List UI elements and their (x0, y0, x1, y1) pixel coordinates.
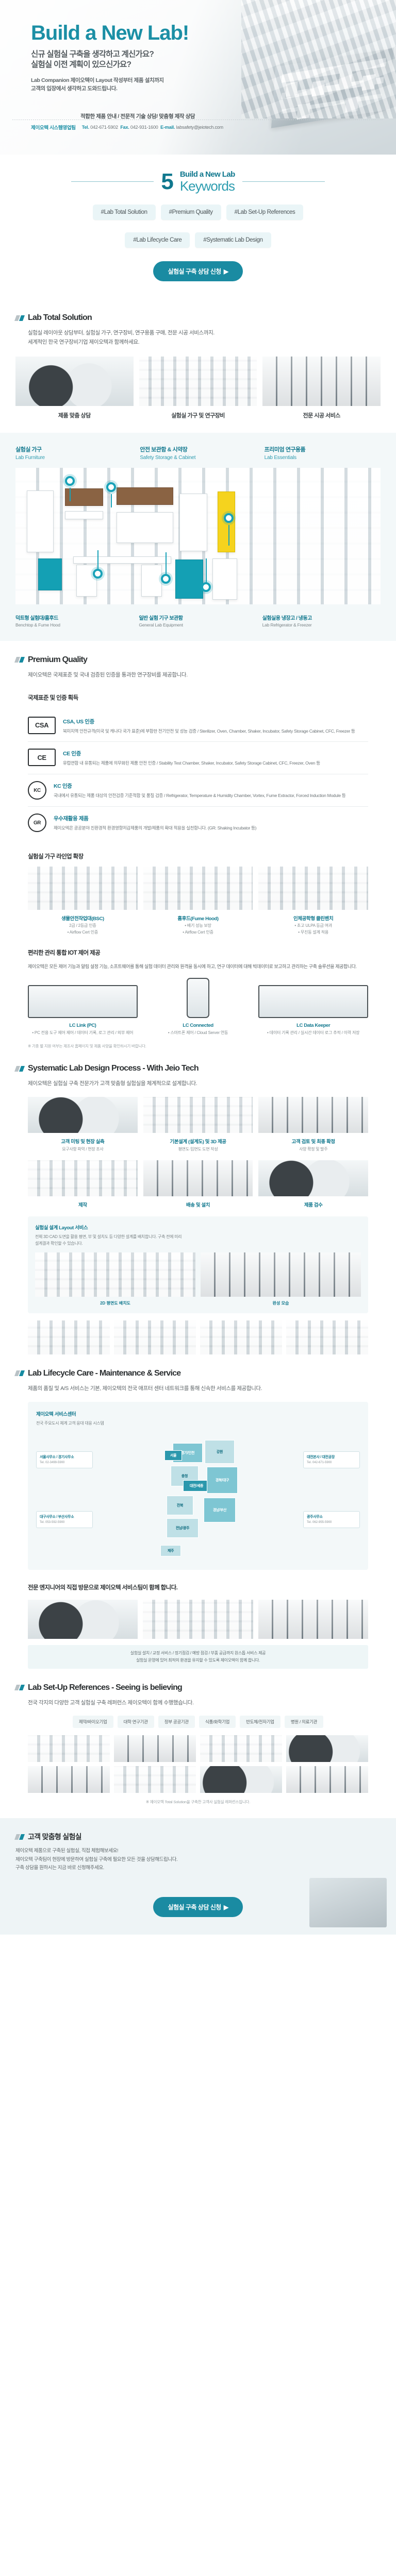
device-desc: • 스마트폰 제어 / Cloud Server 연동 (143, 1030, 253, 1036)
hero-banner: Build a New Lab! 신규 실험실 구축을 생각하고 계신가요? 실… (0, 0, 396, 155)
diagram-label: 덕트형 실험대/흄후드 Benchtop & Fume Hood (15, 614, 134, 628)
cert-description: 제이오텍은 공공분야 친환경적 환경영향저감제품의 개발/제품의 확대 적용을 … (54, 825, 368, 832)
process-step-row-2: 제작 배송 및 설치 제품 검수 (12, 1152, 384, 1208)
product-feature-1: 2급 / 2등급 인증 (28, 923, 138, 928)
device-row: LC Link (PC) • PC 전용 도구 제어 제어 / 데이터 기록, … (12, 971, 384, 1036)
cert-name: CE 인증 (63, 751, 81, 757)
diagram-label-kr: 일반 실험 기구 보관함 (139, 614, 257, 621)
photo-calibration (258, 1600, 368, 1639)
process-step: 고객 미팅 및 현장 실측 요구사항 파악 / 현장 조사 (28, 1097, 138, 1152)
layout-image-row (35, 1252, 361, 1297)
service-note: 실험실 설치 / 교정 서비스 / 정기점검 / 예방 점검 / 부품 공급까지… (28, 1645, 368, 1668)
layout-service-title: 실험실 설계 Layout 서비스 (35, 1224, 361, 1231)
arrow-right-icon: ▶ (224, 268, 228, 275)
reference-tag[interactable]: 반도체/전자기업 (240, 1716, 280, 1728)
diagram-hotspot-pin[interactable] (65, 476, 75, 486)
lab-category-row: 실험실 가구 Lab Furniture 안전 보관함 & 시약장 Safety… (15, 445, 381, 461)
office-name: 대구사무소 / 부산사무소 (40, 1514, 89, 1519)
certification-row: KC KC 인증 국내에서 유통되는 제품 대상의 안전검증 기준적합 및 품질… (28, 774, 368, 807)
footer-lead-line3: 구축 상담을 원하시는 지금 바로 신청해주세요. (15, 1864, 381, 1872)
photo-caption: 전문 시공 서비스 (262, 411, 381, 419)
diagram-unit-cabinet (27, 490, 54, 552)
diagram-hotspot-pin[interactable] (106, 482, 116, 492)
keyword-pill[interactable]: #Lab Lifecycle Care (125, 232, 190, 248)
diagram-unit-bench (117, 512, 173, 543)
photo-maintenance (143, 1600, 253, 1639)
keyword-pill[interactable]: #Premium Quality (161, 205, 221, 220)
lab-category-kr: 실험실 가구 (15, 445, 131, 453)
photo-2d-floorplan (35, 1252, 195, 1297)
photo-lab-furniture (139, 357, 257, 406)
product-name-kr: 생물안전작업대(BSC) (28, 914, 138, 922)
product-feature-2: • Airflow Cert 인증 (28, 929, 138, 935)
photo-card: 제품 맞춤 상담 (15, 357, 134, 419)
step-desc: 사양 확정 및 발주 (258, 1146, 368, 1152)
reference-tag-row: 제약/바이오기업 대학 연구기관 정부 공공기관 식품/화학기업 반도체/전자기… (12, 1707, 384, 1728)
service-center-map-card: 제이오텍 서비스센터 전국 주요도시 체계 고객 응대 대응 시스템 경기/인천… (28, 1402, 368, 1570)
lab-furniture-card: 흄후드(Fume Hood) • 배기 성능 보장 • Airflow Cert… (143, 867, 253, 935)
lab-category-en: Lab Furniture (15, 455, 131, 461)
reference-photo (28, 1735, 110, 1762)
layout-caption: 완성 모습 (201, 1300, 361, 1306)
diagram-label-en: Lab Refrigerator & Freezer (262, 622, 381, 628)
lab-total-lead-line1: 실험실 레이아웃 상담부터, 실험실 가구, 연구장비, 연구용품 구매, 전문… (28, 329, 384, 338)
section-heading-process: Systematic Lab Design Process - With Jei… (12, 1049, 384, 1073)
tablet-icon (258, 985, 368, 1018)
cert-description: 유럽연합 내 유통되는 제품에 의무화된 제품 안전 인증 / Stabilit… (63, 760, 368, 767)
diagram-label: 실험실용 냉장고 / 냉동고 Lab Refrigerator & Freeze… (262, 614, 381, 628)
section-heading-text: Systematic Lab Design Process - With Jei… (28, 1064, 199, 1073)
certification-list: CSA CSA, US 인증 북미지역 안전규격(미국 및 캐나다 국가 표준)… (12, 702, 384, 839)
contact-tel-value: 042-671-5902 (90, 125, 118, 130)
office-phone: Tel. 053-592-5900 (40, 1520, 89, 1525)
premium-quality-section: Premium Quality 제이오텍은 국제표준 및 국내 검증된 인증을 … (0, 641, 396, 1049)
section-marker-icon (15, 1370, 24, 1376)
diagram-unit-overhead-wood (117, 487, 173, 505)
lab-lifecycle-care-section: Lab Lifecycle Care - Maintenance & Servi… (0, 1354, 396, 1669)
contact-headline: 적합한 제품 안내 / 전문적 기술 상담/ 맞춤형 제작 상담 (80, 112, 396, 120)
monitor-icon (28, 985, 138, 1018)
diagram-unit-benchtop (73, 556, 171, 564)
photo-clean-bench (258, 867, 368, 910)
page-title: Build a New Lab! (31, 23, 396, 43)
diagram-unit-overhead-wood (65, 488, 103, 506)
contact-details: Tel. 042-671-5902 Fax. 042-931-1600 E-ma… (82, 125, 223, 130)
lab-category-en: Lab Essentials (265, 455, 381, 461)
section-marker-icon (15, 1834, 24, 1840)
photo-step-meeting (28, 1097, 138, 1133)
layout-caption-row: 2D 평면도 배치도 완성 모습 (35, 1300, 361, 1306)
cert-name: CSA, US 인증 (63, 719, 94, 725)
hero-subtitle-line2: 실험실 이전 계획이 있으신가요? (31, 60, 396, 70)
lab-furniture-heading: 실험실 가구 라인업 확장 (12, 839, 384, 860)
office-phone: Tel. 062-955-5900 (307, 1520, 356, 1525)
photo-caption: 제품 맞춤 상담 (15, 411, 134, 419)
office-card: 대구사무소 / 부산사무소 Tel. 053-592-5900 (36, 1511, 93, 1528)
photo-step-manufacture (28, 1160, 138, 1196)
section-heading-text: Lab Set-Up References - Seeing is believ… (28, 1683, 182, 1692)
keywords-rule-left (71, 181, 154, 182)
diagram-unit-drawer (141, 565, 162, 597)
photo-consultation (15, 357, 134, 406)
diagram-label-en: General Lab Equipment (139, 622, 257, 628)
photo-completed-lab (201, 1252, 361, 1297)
diagram-label-kr: 실험실용 냉장고 / 냉동고 (262, 614, 381, 621)
product-name-kr: 인체공학형 클린벤치 (258, 914, 368, 922)
cad-thumbnail-strip (12, 1313, 384, 1354)
section-marker-icon (15, 1685, 24, 1690)
connected-heading: 편리한 관리 통합 IOT 제어 제공 (12, 935, 384, 957)
reference-tag[interactable]: 병원 / 의료기관 (285, 1716, 323, 1728)
device-name: LC Link (PC) (28, 1023, 138, 1028)
section-heading-lab-total-solution: Lab Total Solution (12, 299, 384, 323)
section-heading-references: Lab Set-Up References - Seeing is believ… (12, 1669, 384, 1692)
section-marker-icon (15, 315, 24, 321)
section-heading-lifecycle: Lab Lifecycle Care - Maintenance & Servi… (12, 1354, 384, 1378)
landing-page: Build a New Lab! 신규 실험실 구축을 생각하고 계신가요? 실… (0, 0, 396, 1935)
photo-fume-hood (143, 867, 253, 910)
diagram-unit-chiller (175, 560, 203, 599)
process-lead: 제이오텍은 실험실 구축 전문가가 고객 맞춤형 실험실을 체계적으로 설계합니… (12, 1073, 384, 1089)
reference-tag[interactable]: 대학 연구기관 (118, 1716, 154, 1728)
gr-badge-icon: GR (28, 814, 46, 832)
lab-total-lead-line2: 세계적인 한국 연구장비기업 제이오텍과 함께하세요. (28, 338, 384, 347)
diagram-unit-storage (212, 558, 237, 600)
office-phone: Tel. 042-671-5900 (307, 1461, 356, 1465)
photo-cad-thumb (286, 1320, 368, 1354)
contact-email-value[interactable]: labsafety@jeiotech.com (176, 125, 223, 130)
device-card-mobile: LC Connected • 스마트폰 제어 / Cloud Server 연동 (143, 978, 253, 1036)
product-feature-1: • 초고 ULPA 등급 여과 (258, 923, 368, 928)
product-feature-1: • 배기 성능 보장 (143, 923, 253, 928)
reference-photo (286, 1766, 368, 1793)
lab-diagram-band: 실험실 가구 Lab Furniture 안전 보관함 & 시약장 Safety… (0, 433, 396, 641)
lab-total-photo-row: 제품 맞춤 상담 실험실 가구 및 연구장비 전문 시공 서비스 (12, 347, 384, 419)
diagram-label-en: Benchtop & Fume Hood (15, 622, 134, 628)
smartphone-icon (187, 978, 209, 1018)
keywords-rule-right (242, 181, 325, 182)
photo-biosafety-cabinet (28, 867, 138, 910)
contact-email-label: E-mail. (160, 125, 175, 130)
map-region[interactable]: 전남/광주 (167, 1518, 199, 1538)
photo-installation (262, 357, 381, 406)
device-name: LC Data Keeper (258, 1023, 368, 1028)
diagram-label-kr: 덕트형 실험대/흄후드 (15, 614, 134, 621)
diagram-hotspot-pin[interactable] (201, 582, 211, 592)
premium-lead-line1: 제이오텍은 국제표준 및 국내 검증된 인증을 통과한 연구장비를 제공합니다. (28, 671, 384, 680)
contact-tel-label: Tel. (82, 125, 89, 130)
contact-fax-label: Fax. (120, 125, 129, 130)
lab-interior-diagram (15, 468, 381, 604)
process-step: 배송 및 설치 (143, 1160, 253, 1208)
office-name: 광주사무소 (307, 1514, 356, 1519)
device-card-pc: LC Link (PC) • PC 전용 도구 제어 제어 / 데이터 기록, … (28, 985, 138, 1036)
layout-service-box: 실험실 설계 Layout 서비스 전체 3D CAD 도면을 활용 평면, 부… (28, 1216, 368, 1313)
lab-total-solution-section: Lab Total Solution 실험실 레이아웃 상담부터, 실험실 가구… (0, 299, 396, 419)
lab-design-process-section: Systematic Lab Design Process - With Jei… (0, 1049, 396, 1354)
lab-category: 실험실 가구 Lab Furniture (15, 445, 131, 461)
step-desc: 평면도·입면도 도면 작성 (143, 1146, 253, 1152)
process-step: 제작 (28, 1160, 138, 1208)
keyword-pill-row-2: #Lab Lifecycle Care #Systematic Lab Desi… (51, 231, 345, 248)
section-heading-text: Premium Quality (28, 655, 87, 665)
hero-desc-line1: Lab Companion 제이오텍이 Layout 작성부터 제품 설치까지 (31, 76, 396, 84)
photo-engineer-visit (28, 1600, 138, 1639)
keyword-pill[interactable]: #Systematic Lab Design (195, 232, 271, 248)
footer-cta-label: 실험실 구축 상담 신청 (168, 1904, 221, 1911)
cert-name: 우수재활용 제품 (54, 816, 88, 822)
reference-photo (200, 1735, 282, 1762)
map-region[interactable]: 강원 (205, 1440, 235, 1464)
keywords-section: 5 Build a New Lab Keywords #Lab Total So… (0, 155, 396, 299)
keywords-count: 5 (161, 172, 172, 191)
diagram-hotspot-pin[interactable] (224, 513, 234, 523)
service-note-line2: 실험실 운영에 있어 최적의 환경을 유지할 수 있도록 제이오텍이 함께 합니… (34, 1657, 362, 1664)
step-title: 기본설계 (설계도) 및 3D 제공 (143, 1138, 253, 1145)
lab-category: 프리미엄 연구용품 Lab Essentials (265, 445, 381, 461)
keywords-title-line2: Keywords (180, 178, 235, 194)
keyword-pill[interactable]: #Lab Set-Up References (226, 205, 304, 220)
step-title: 배송 및 설치 (143, 1201, 253, 1208)
lab-category-kr: 프리미엄 연구용품 (265, 445, 381, 453)
certification-row: CE CE 인증 유럽연합 내 유통되는 제품에 의무화된 제품 안전 인증 /… (28, 742, 368, 774)
photo-step-delivery (143, 1160, 253, 1196)
footer-heading-text: 고객 맞춤형 실험실 (28, 1832, 81, 1842)
kc-badge-icon: KC (28, 781, 46, 800)
consultation-request-button[interactable]: 실험실 구축 상담 신청▶ (153, 261, 242, 281)
photo-card: 전문 시공 서비스 (262, 357, 381, 419)
layout-desc-line1: 전체 3D CAD 도면을 활용 평면, 부 및 설치도 등 다양한 설계를 배… (35, 1234, 361, 1241)
cert-description: 북미지역 안전규격(미국 및 캐나다 국가 표준)에 부합한 전기안전 및 성능… (63, 728, 368, 735)
footer-lead-line1: 제이오텍 제품으로 구축된 실험실, 직접 체험해보세요! (15, 1847, 381, 1855)
ce-badge-icon: CE (28, 749, 56, 766)
diagram-hotspot-pin[interactable] (161, 574, 171, 584)
lab-furniture-card: 생물안전작업대(BSC) 2급 / 2등급 인증 • Airflow Cert … (28, 867, 138, 935)
process-step: 기본설계 (설계도) 및 3D 제공 평면도·입면도 도면 작성 (143, 1097, 253, 1152)
map-region[interactable]: 경남/부산 (204, 1498, 236, 1522)
product-name-kr: 흄후드(Fume Hood) (143, 914, 253, 922)
map-region[interactable]: 서울 (164, 1450, 182, 1461)
step-desc: 요구사항 파악 / 현장 조사 (28, 1146, 138, 1152)
reference-tag[interactable]: 제약/바이오기업 (73, 1716, 113, 1728)
contact-block: 적합한 제품 안내 / 전문적 기술 상담/ 맞춤형 제작 상담 제이오텍 시스… (0, 112, 396, 131)
diagram-unit-shelf (65, 511, 103, 519)
photo-card: 실험실 가구 및 연구장비 (139, 357, 257, 419)
contact-team-name: 제이오텍 시스템영업팀 (31, 124, 76, 131)
lab-category-kr: 안전 보관함 & 시약장 (140, 445, 256, 453)
office-card: 광주사무소 Tel. 062-955-5900 (303, 1511, 360, 1528)
contact-fax-value: 042-931-1600 (130, 125, 158, 130)
diagram-unit-drawer (76, 565, 97, 597)
diagram-label-row: 덕트형 실험대/흄후드 Benchtop & Fume Hood 일반 실험 기… (0, 604, 396, 628)
device-desc: • 데이터 기록 관리 / 실시간 데이터 로그 추적 / 이력 저장 (258, 1030, 368, 1036)
photo-step-design (143, 1097, 253, 1133)
service-photo-row (12, 1591, 384, 1639)
office-name: 서울사무소 / 경기사무소 (40, 1454, 89, 1460)
step-title: 고객 검토 및 최종 확정 (258, 1138, 368, 1145)
certification-row: GR 우수재활용 제품 제이오텍은 공공분야 친환경적 환경영향저감제품의 개발… (28, 807, 368, 839)
photo-cad-thumb (114, 1320, 196, 1354)
device-name: LC Connected (143, 1023, 253, 1028)
device-card-datakeeper: LC Data Keeper • 데이터 기록 관리 / 실시간 데이터 로그 … (258, 985, 368, 1036)
keywords-heading: 5 Build a New Lab Keywords (0, 170, 396, 193)
certs-heading: 국제표준 및 인증 획득 (12, 680, 384, 702)
keyword-pill[interactable]: #Lab Total Solution (93, 205, 156, 220)
reference-photo (114, 1735, 196, 1762)
section-marker-icon (15, 657, 24, 663)
office-phone: Tel. 02-3499-5900 (40, 1461, 89, 1465)
reference-photo-grid (12, 1728, 384, 1793)
photo-step-inspection (258, 1160, 368, 1196)
reference-note: ※ 제이오텍 Total Solution을 구축한 고객사 실험실 레퍼런스입… (12, 1793, 384, 1805)
reference-photo (286, 1735, 368, 1762)
section-heading-text: Lab Total Solution (28, 313, 92, 323)
step-title: 제품 검수 (258, 1201, 368, 1208)
lab-furniture-row: 생물안전작업대(BSC) 2급 / 2등급 인증 • Airflow Cert … (12, 860, 384, 935)
footer-consultation-button[interactable]: 실험실 구축 상담 신청▶ (153, 1897, 242, 1917)
process-step-row-1: 고객 미팅 및 현장 실측 요구사항 파악 / 현장 조사 기본설계 (설계도)… (12, 1089, 384, 1152)
map-region[interactable]: 경북/대구 (207, 1467, 238, 1494)
reference-photo (28, 1766, 110, 1793)
section-heading-text: Lab Lifecycle Care - Maintenance & Servi… (28, 1369, 180, 1378)
photo-cad-thumb (200, 1320, 282, 1354)
lifecycle-lead: 제품의 품질 및 A/S 서비스는 기본, 제이오텍의 전국 애프터 센터 네트… (12, 1378, 384, 1394)
office-card: 대전본사 / 대전공장 Tel. 042-671-5900 (303, 1451, 360, 1468)
diagram-unit-freezer (179, 494, 207, 551)
references-lead: 전국 각지의 다양한 고객 실험실 구축 레퍼런스 제이오텍이 함께 수행했습니… (12, 1692, 384, 1708)
connected-lead: 제이오텍은 모든 제어 기능과 알림 설정 기능, 소프트웨어를 통해 실험 데… (12, 957, 384, 971)
lab-category: 안전 보관함 & 시약장 Safety Storage & Cabinet (140, 445, 256, 461)
office-name: 대전본사 / 대전공장 (307, 1454, 356, 1460)
step-title: 제작 (28, 1201, 138, 1208)
keyword-pill-row-1: #Lab Total Solution #Premium Quality #La… (51, 205, 345, 220)
diagram-unit-teal-cabinet (38, 558, 62, 590)
arrow-right-icon: ▶ (224, 1904, 228, 1911)
lab-furniture-card: 인체공학형 클린벤치 • 초고 ULPA 등급 여과 • 무진동 설계 적용 (258, 867, 368, 935)
device-fine-print: ※ 기종 별 지원 여부는 제조사 홈페이지 및 제품 사양을 확인하시기 바랍… (12, 1036, 384, 1049)
device-desc: • PC 전용 도구 제어 제어 / 데이터 기록, 로그 관리 / 외부 제어 (28, 1030, 138, 1036)
diagram-label: 일반 실험 기구 보관함 General Lab Equipment (139, 614, 257, 628)
map-region[interactable]: 제주 (160, 1545, 181, 1556)
lab-references-section: Lab Set-Up References - Seeing is believ… (0, 1669, 396, 1805)
layout-desc-line2: 설계결과 확인할 수 있습니다. (35, 1241, 361, 1247)
photo-caption: 실험실 가구 및 연구장비 (139, 411, 257, 419)
section-marker-icon (15, 1066, 24, 1072)
csa-badge-icon: CSA (28, 717, 56, 734)
hero-desc-line2: 고객의 입장에서 생각하고 도와드립니다. (31, 84, 396, 93)
map-region[interactable]: 대전/세종 (183, 1480, 210, 1492)
diagram-hotspot-pin[interactable] (93, 569, 103, 579)
footer-cta-section: 고객 맞춤형 실험실 제이오텍 제품으로 구축된 실험실, 직접 체험해보세요!… (0, 1818, 396, 1934)
reference-photo (200, 1766, 282, 1793)
process-step: 제품 검수 (258, 1160, 368, 1208)
keywords-title-line1: Build a New Lab (180, 170, 235, 179)
photo-cad-thumb (28, 1320, 110, 1354)
map-title: 제이오텍 서비스센터 (36, 1410, 360, 1417)
map-subtitle: 전국 주요도시 체계 고객 응대 대응 시스템 (36, 1420, 360, 1427)
product-feature-2: • 무진동 설계 적용 (258, 929, 368, 935)
step-title: 고객 미팅 및 현장 실측 (28, 1138, 138, 1145)
process-step: 고객 검토 및 최종 확정 사양 확정 및 발주 (258, 1097, 368, 1152)
office-card: 서울사무소 / 경기사무소 Tel. 02-3499-5900 (36, 1451, 93, 1468)
layout-caption: 2D 평면도 배치도 (35, 1300, 195, 1306)
hero-subtitle-line1: 신규 실험실 구축을 생각하고 계신가요? (31, 49, 396, 60)
map-region[interactable]: 전북 (167, 1496, 193, 1515)
service-note-line1: 실험실 설치 / 교정 서비스 / 정기점검 / 예방 점검 / 부품 공급까지… (34, 1650, 362, 1657)
visit-service-title: 전문 엔지니어의 직접 방문으로 제이오텍 서비스팀이 함께 합니다. (12, 1570, 384, 1591)
cert-description: 국내에서 유통되는 제품 대상의 안전검증 기준적합 및 품질 검증 / Ref… (54, 792, 368, 800)
cta-label: 실험실 구축 상담 신청 (168, 268, 221, 275)
product-feature-2: • Airflow Cert 인증 (143, 929, 253, 935)
footer-heading: 고객 맞춤형 실험실 (15, 1832, 381, 1842)
certification-row: CSA CSA, US 인증 북미지역 안전규격(미국 및 캐나다 국가 표준)… (28, 710, 368, 742)
reference-tag[interactable]: 정부 공공기관 (158, 1716, 195, 1728)
reference-tag[interactable]: 식품/화학기업 (199, 1716, 236, 1728)
photo-step-review (258, 1097, 368, 1133)
reference-photo (114, 1766, 196, 1793)
cert-name: KC 인증 (54, 783, 72, 789)
footer-lead-line2: 제이오텍 구축팀이 현장에 방문하여 실험실 구축에 필요한 모든 것을 상담해… (15, 1856, 381, 1864)
korea-map: 경기/인천 서울 강원 충청 대전/세종 경북/대구 전북 전남/광주 경남/부… (149, 1433, 247, 1562)
section-heading-premium-quality: Premium Quality (12, 641, 384, 665)
lab-category-en: Safety Storage & Cabinet (140, 455, 256, 461)
footer-lab-photo (309, 1878, 387, 1927)
